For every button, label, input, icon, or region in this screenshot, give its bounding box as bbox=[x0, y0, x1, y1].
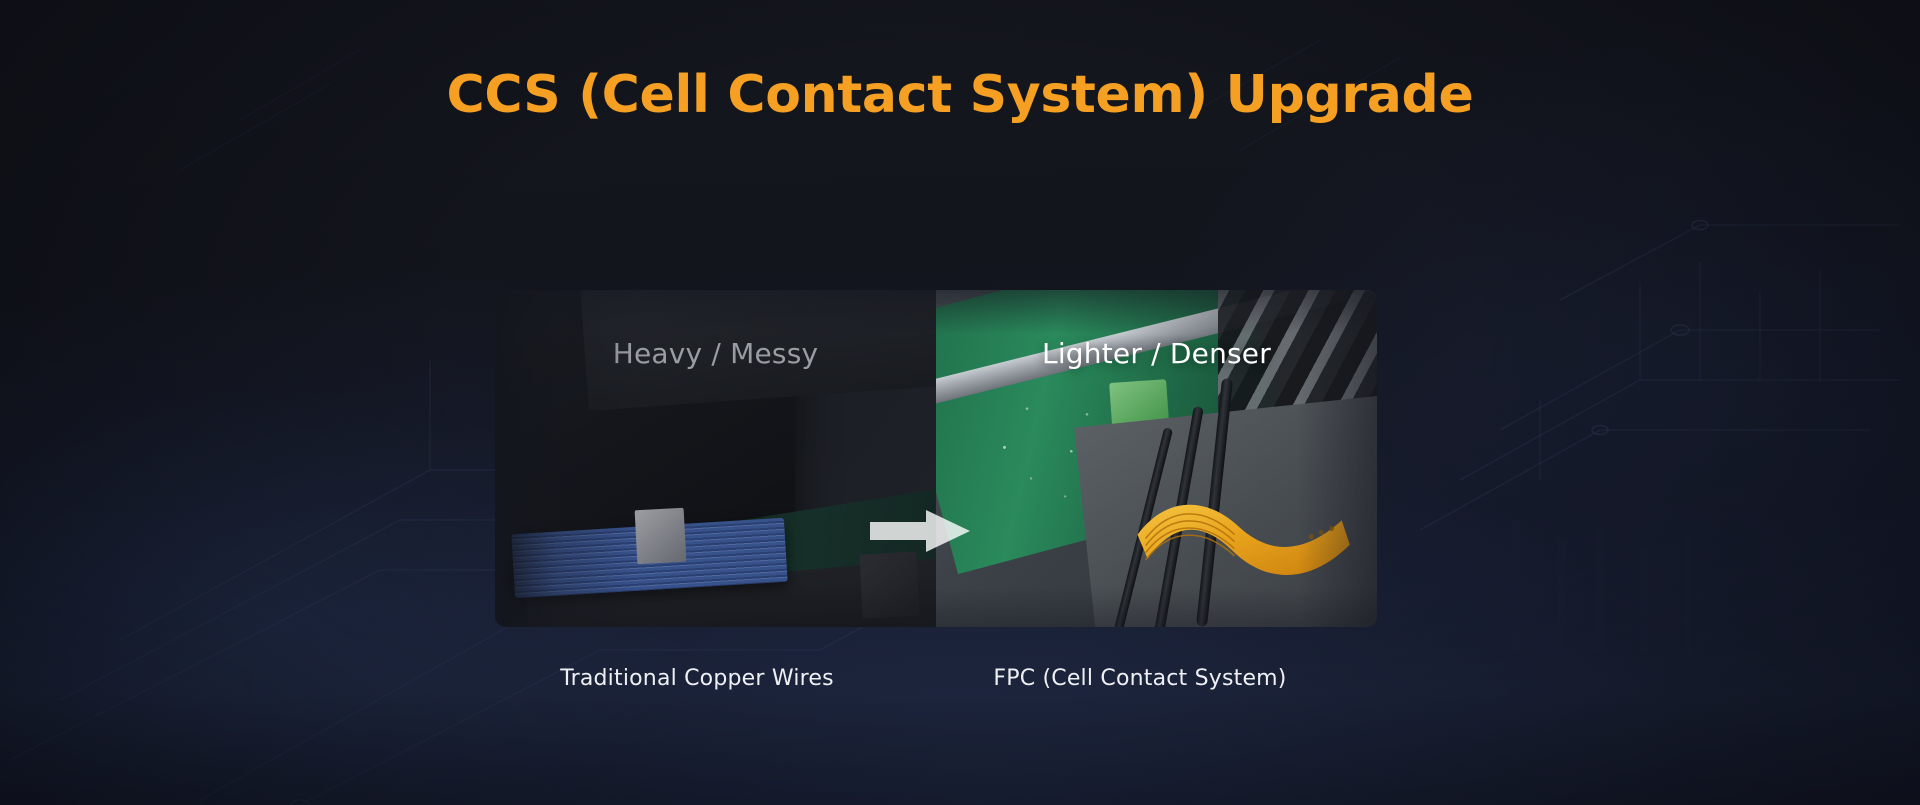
page-title: CCS (Cell Contact System) Upgrade bbox=[0, 66, 1920, 126]
right-caption: FPC (Cell Contact System) bbox=[940, 666, 1340, 691]
fpc-flex-circuit bbox=[1130, 482, 1359, 593]
ccs-upgrade-section: CCS (Cell Contact System) Upgrade Heavy … bbox=[0, 0, 1920, 805]
comparison-left-half: Heavy / Messy bbox=[495, 290, 936, 627]
left-caption: Traditional Copper Wires bbox=[497, 666, 897, 691]
left-overlay-label: Heavy / Messy bbox=[495, 337, 936, 370]
right-overlay-label: Lighter / Denser bbox=[936, 337, 1377, 370]
comparison-image-panel: Heavy / Messy bbox=[495, 290, 1377, 627]
comparison-right-half: Lighter / Denser bbox=[936, 290, 1377, 627]
